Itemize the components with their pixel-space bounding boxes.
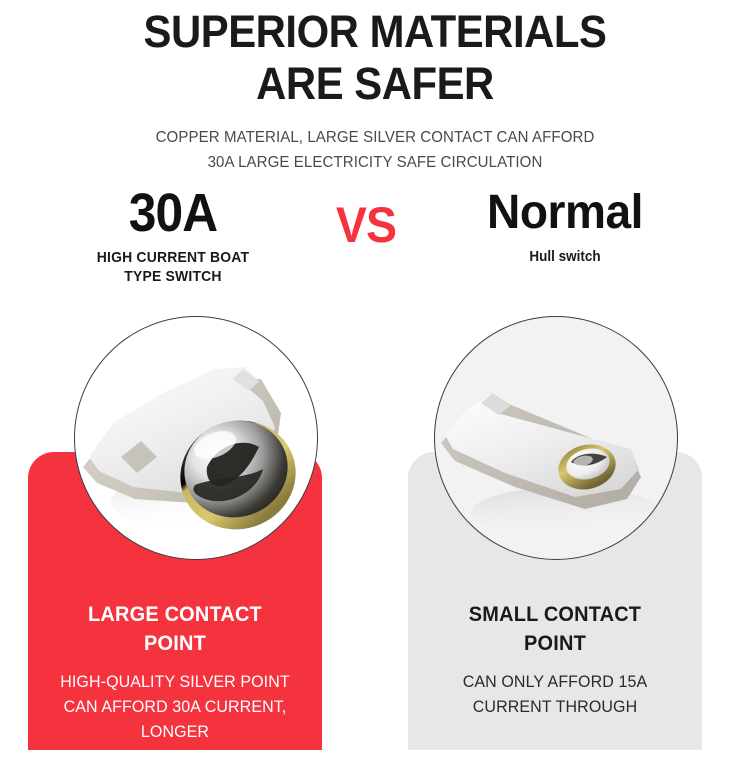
product-photo-small-contact — [434, 316, 678, 560]
card-left-body-line-2: CAN AFFORD 30A CURRENT, LONGER — [38, 695, 312, 745]
card-left-body-line-3: ELECTRICAL SERVICE LIFE — [38, 745, 312, 770]
card-right-body: CAN ONLY AFFORD 15A CURRENT THROUGH — [418, 670, 692, 720]
header: SUPERIOR MATERIALS ARE SAFER COPPER MATE… — [0, 0, 750, 175]
comparison-header-row: 30A HIGH CURRENT BOAT TYPE SWITCH VS Nor… — [0, 185, 750, 295]
right-headline: Normal — [416, 185, 714, 241]
card-right-title-line-1: SMALL CONTACT — [415, 600, 694, 629]
large-contact-switch-illustration — [75, 317, 317, 559]
vs-badge: VS — [323, 199, 409, 251]
card-left-title-line-2: POINT — [35, 629, 314, 658]
product-photo-large-contact — [74, 316, 318, 560]
card-left-body-line-1: HIGH-QUALITY SILVER POINT — [38, 670, 312, 695]
page-subtitle-line-2: 30A LARGE ELECTRICITY SAFE CIRCULATION — [11, 150, 739, 175]
small-contact-switch-illustration — [435, 317, 677, 559]
left-subhead: HIGH CURRENT BOAT TYPE SWITCH — [38, 248, 308, 286]
page-title-line-2: ARE SAFER — [26, 58, 724, 109]
card-right-title: SMALL CONTACT POINT — [415, 600, 694, 658]
card-right-body-line-2: CURRENT THROUGH — [418, 695, 692, 720]
left-subhead-line-2: TYPE SWITCH — [38, 267, 308, 286]
left-column-heading: 30A HIGH CURRENT BOAT TYPE SWITCH — [28, 185, 318, 286]
left-subhead-line-1: HIGH CURRENT BOAT — [38, 248, 308, 267]
lever-top-face — [445, 393, 639, 497]
card-left-body: HIGH-QUALITY SILVER POINT CAN AFFORD 30A… — [38, 670, 312, 770]
left-headline: 30A — [40, 185, 307, 241]
card-right-body-line-1: CAN ONLY AFFORD 15A — [418, 670, 692, 695]
card-right-title-line-2: POINT — [415, 629, 694, 658]
page-subtitle-line-1: COPPER MATERIAL, LARGE SILVER CONTACT CA… — [11, 125, 739, 150]
right-column-heading: Normal Hull switch — [410, 185, 720, 267]
page-subtitle: COPPER MATERIAL, LARGE SILVER CONTACT CA… — [11, 125, 739, 175]
card-left-title: LARGE CONTACT POINT — [35, 600, 314, 658]
card-left-title-line-1: LARGE CONTACT — [35, 600, 314, 629]
page-title-line-1: SUPERIOR MATERIALS — [26, 6, 724, 57]
right-subhead-line-1: Hull switch — [421, 248, 709, 267]
right-subhead: Hull switch — [421, 248, 709, 267]
infographic-page: SUPERIOR MATERIALS ARE SAFER COPPER MATE… — [0, 0, 750, 750]
